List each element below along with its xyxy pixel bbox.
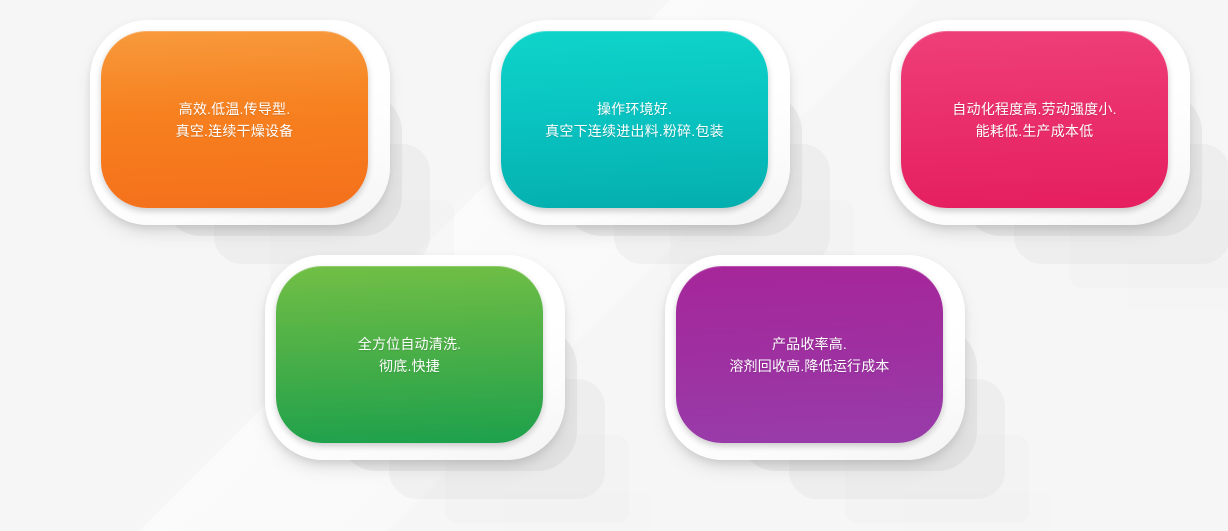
feature-card-yield[interactable]: 产品收率高. 溶剂回收高.降低运行成本 xyxy=(665,255,965,460)
card-label-line-2: 真空.连续干燥设备 xyxy=(176,120,294,142)
feature-card-cleaning[interactable]: 全方位自动清洗. 彻底.快捷 xyxy=(265,255,565,460)
feature-cards-canvas: 高效.低温.传导型. 真空.连续干燥设备 操作环境好. 真空下连续进出料.粉碎.… xyxy=(0,0,1228,531)
card-color-panel: 产品收率高. 溶剂回收高.降低运行成本 xyxy=(676,266,943,443)
card-label-line-1: 全方位自动清洗. xyxy=(358,333,462,355)
card-label-line-2: 溶剂回收高.降低运行成本 xyxy=(729,355,889,377)
card-label: 高效.低温.传导型. 真空.连续干燥设备 xyxy=(162,98,308,142)
card-label-line-1: 操作环境好. xyxy=(545,98,724,120)
feature-card-environment[interactable]: 操作环境好. 真空下连续进出料.粉碎.包装 xyxy=(490,20,790,225)
feature-card-efficiency[interactable]: 高效.低温.传导型. 真空.连续干燥设备 xyxy=(90,20,390,225)
card-label-line-2: 能耗低.生产成本低 xyxy=(952,120,1116,142)
feature-card-automation[interactable]: 自动化程度高.劳动强度小. 能耗低.生产成本低 xyxy=(890,20,1190,225)
card-label-line-1: 高效.低温.传导型. xyxy=(176,98,294,120)
card-color-panel: 全方位自动清洗. 彻底.快捷 xyxy=(276,266,543,443)
card-label: 产品收率高. 溶剂回收高.降低运行成本 xyxy=(715,333,903,377)
card-label: 全方位自动清洗. 彻底.快捷 xyxy=(344,333,476,377)
card-label: 自动化程度高.劳动强度小. 能耗低.生产成本低 xyxy=(938,98,1130,142)
card-color-panel: 操作环境好. 真空下连续进出料.粉碎.包装 xyxy=(501,31,768,208)
card-label-line-1: 产品收率高. xyxy=(729,333,889,355)
card-label-line-2: 彻底.快捷 xyxy=(358,355,462,377)
card-label: 操作环境好. 真空下连续进出料.粉碎.包装 xyxy=(531,98,738,142)
card-color-panel: 高效.低温.传导型. 真空.连续干燥设备 xyxy=(101,31,368,208)
card-label-line-1: 自动化程度高.劳动强度小. xyxy=(952,98,1116,120)
card-label-line-2: 真空下连续进出料.粉碎.包装 xyxy=(545,120,724,142)
card-color-panel: 自动化程度高.劳动强度小. 能耗低.生产成本低 xyxy=(901,31,1168,208)
